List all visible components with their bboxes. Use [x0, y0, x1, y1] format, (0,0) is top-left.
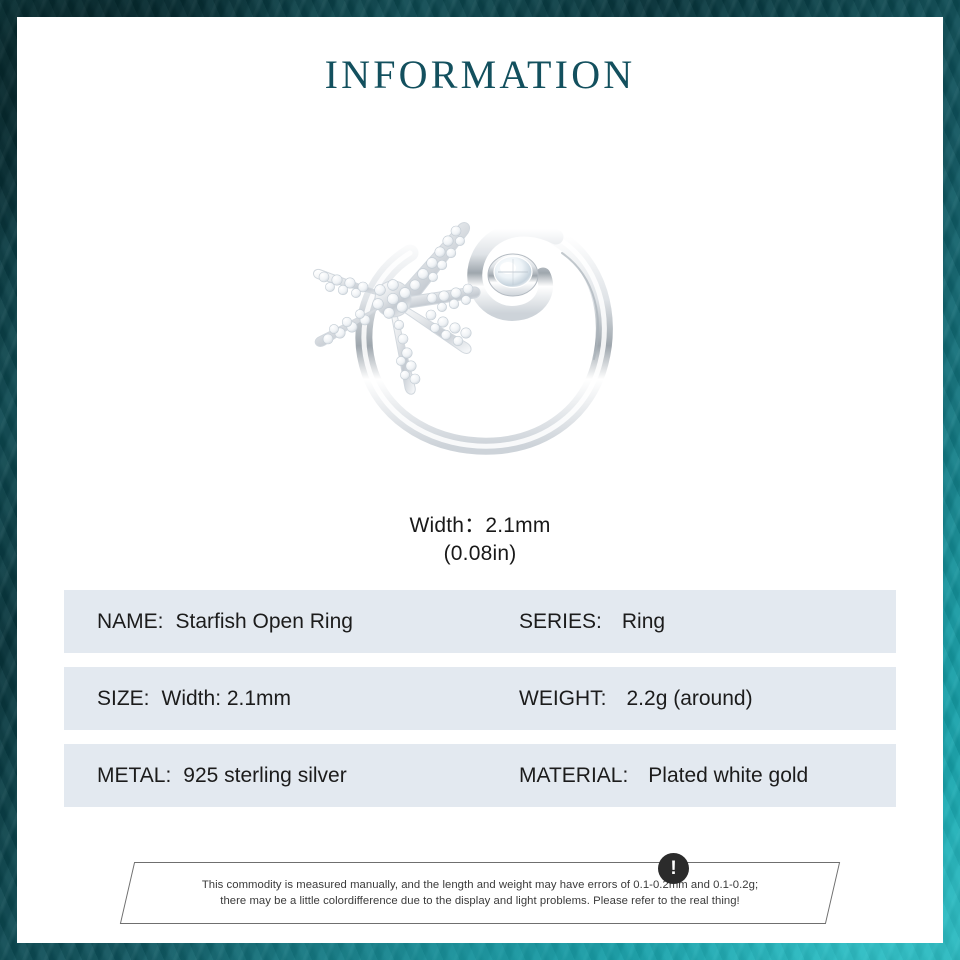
- size-caption-line-1: Width：2.1mm: [17, 512, 943, 540]
- disclaimer-text: This commodity is measured manually, and…: [127, 862, 833, 924]
- spec-table: NAME: Starfish Open Ring SERIES: Ring SI…: [64, 590, 896, 821]
- product-photo: [17, 167, 943, 497]
- size-caption-line-2: (0.08in): [17, 540, 943, 568]
- table-row: METAL: 925 sterling silver MATERIAL: Pla…: [64, 744, 896, 807]
- size-caption: Width：2.1mm (0.08in): [17, 512, 943, 568]
- table-row: NAME: Starfish Open Ring SERIES: Ring: [64, 590, 896, 653]
- spec-key-weight: WEIGHT:: [519, 687, 607, 711]
- spec-key-series: SERIES:: [519, 610, 602, 634]
- spec-value-material: Plated white gold: [648, 764, 808, 788]
- spec-key-material: MATERIAL:: [519, 764, 628, 788]
- spec-value-size: Width: 2.1mm: [162, 687, 292, 711]
- starfish-ring-illustration: [270, 167, 690, 487]
- spec-cell-series: SERIES: Ring: [516, 610, 896, 634]
- spec-cell-metal: METAL: 925 sterling silver: [64, 764, 516, 788]
- spec-value-weight: 2.2g (around): [627, 687, 753, 711]
- spec-cell-weight: WEIGHT: 2.2g (around): [516, 687, 896, 711]
- exclamation-glyph: !: [670, 859, 676, 878]
- white-content-card: INFORMATION: [17, 17, 943, 943]
- table-row: SIZE: Width: 2.1mm WEIGHT: 2.2g (around): [64, 667, 896, 730]
- spec-cell-name: NAME: Starfish Open Ring: [64, 610, 516, 634]
- exclamation-icon: !: [658, 853, 689, 884]
- product-information-graphic: INFORMATION: [0, 0, 960, 960]
- spec-key-size: SIZE:: [97, 687, 150, 711]
- spec-cell-size: SIZE: Width: 2.1mm: [64, 687, 516, 711]
- spec-value-name: Starfish Open Ring: [176, 610, 353, 634]
- disclaimer-banner: This commodity is measured manually, and…: [127, 862, 833, 924]
- spec-key-name: NAME:: [97, 610, 164, 634]
- spec-value-series: Ring: [622, 610, 665, 634]
- spec-value-metal: 925 sterling silver: [183, 764, 346, 788]
- spec-cell-material: MATERIAL: Plated white gold: [516, 764, 896, 788]
- disclaimer-line-2: there may be a little colordifference du…: [220, 893, 740, 910]
- spec-key-metal: METAL:: [97, 764, 171, 788]
- page-title: INFORMATION: [17, 51, 943, 98]
